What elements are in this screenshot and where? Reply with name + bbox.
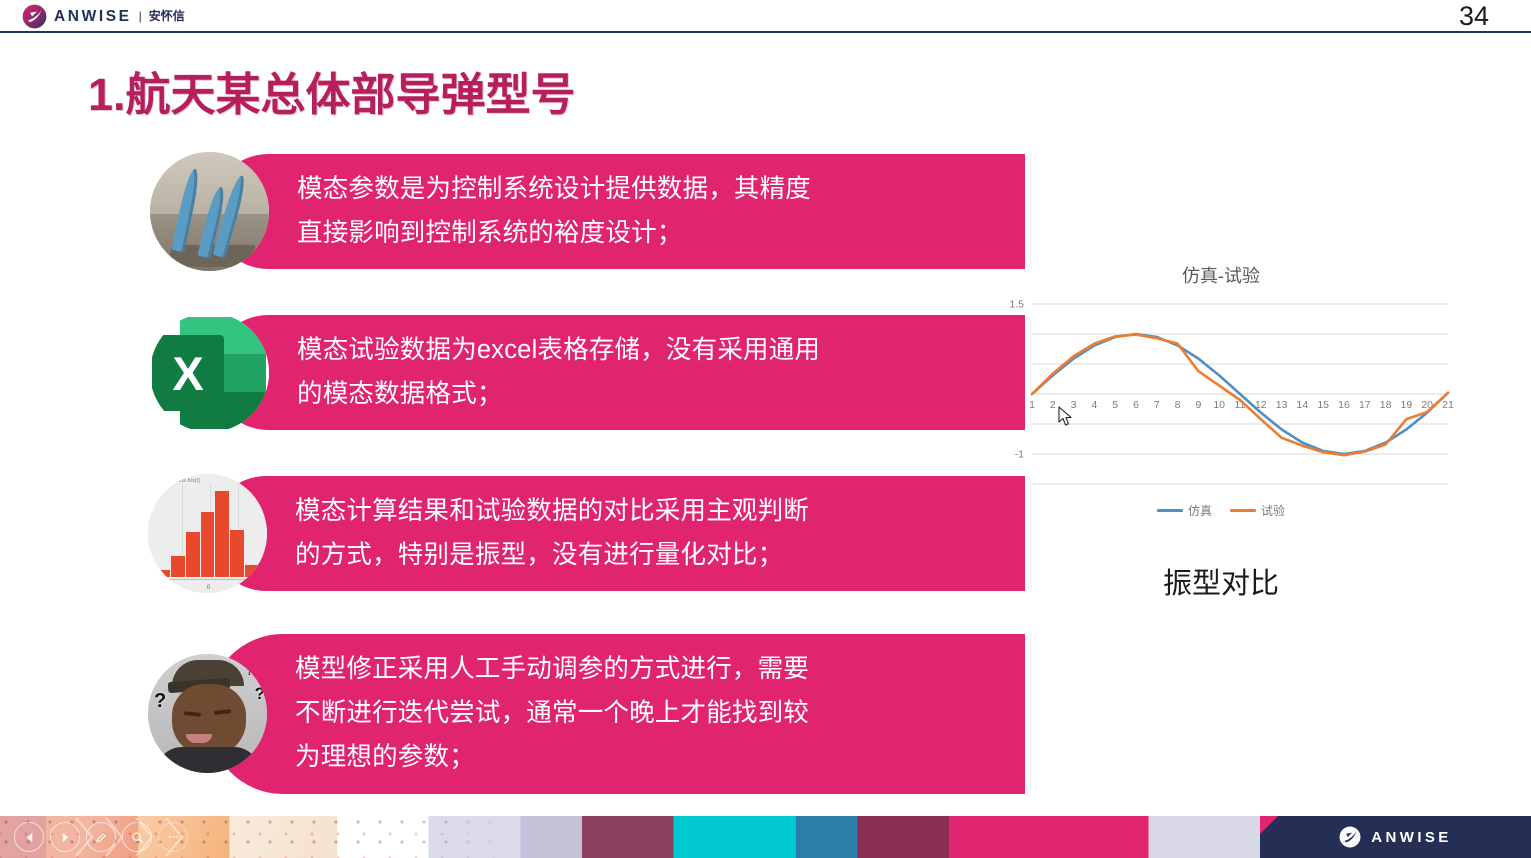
y-axis-tick-label: -1	[1015, 449, 1024, 461]
x-axis-tick-label: 9	[1195, 399, 1201, 411]
x-axis-tick-label: 13	[1276, 399, 1288, 411]
footer-accent-corner	[1260, 816, 1278, 834]
previous-slide-icon[interactable]	[14, 822, 44, 852]
x-axis-tick-label: 14	[1297, 399, 1309, 411]
x-axis-tick-label: 21	[1442, 399, 1454, 411]
anwise-swoosh-logo-icon	[1339, 826, 1361, 848]
bullet-banner: 模态试验数据为excel表格存储，没有采用通用 的模态数据格式；	[211, 315, 1025, 431]
chart-legend: 仿真 试验	[986, 502, 1456, 519]
legend-swatch	[1157, 509, 1183, 512]
question-mark-icon: ?	[154, 690, 166, 713]
bullet-text: 模态计算结果和试验数据的对比采用主观判断 的方式，特别是振型，没有进行量化对比；	[295, 490, 809, 578]
footer-brand-name: ANWISE	[1371, 829, 1451, 846]
x-axis-tick-label: 10	[1213, 399, 1225, 411]
x-axis-tick-label: 6	[1133, 399, 1139, 411]
legend-item-simulation: 仿真	[1157, 502, 1212, 519]
legend-item-experiment: 试验	[1230, 502, 1285, 519]
bullet-text: 模态参数是为控制系统设计提供数据，其精度 直接影响到控制系统的裕度设计；	[297, 168, 811, 256]
question-mark-icon: ?	[246, 666, 253, 678]
bullet-row: plots.hist() -1 0 1	[148, 474, 1025, 593]
brand-separator: |	[139, 4, 142, 29]
x-axis-tick-label: 7	[1154, 399, 1160, 411]
bullet-row: X 模态试验数据为excel表格存储，没有采用通用 的模态数据格式；	[150, 313, 1025, 432]
slide-title: 1.航天某总体部导弹型号	[88, 58, 576, 123]
comparison-line-chart: 仿真-试验 1.510.50-0.5-1-1.51234567891011121…	[986, 262, 1456, 522]
chart-caption: 振型对比	[986, 560, 1456, 602]
x-axis-tick-label: 5	[1112, 399, 1118, 411]
brand-name-cn: 安怀信	[149, 4, 185, 29]
missile-launcher-photo	[150, 152, 269, 271]
confused-face-meme-photo: ? ? ?	[148, 654, 267, 773]
histogram-tick: -1	[171, 585, 176, 591]
next-slide-icon[interactable]	[50, 822, 80, 852]
question-mark-icon: ?	[255, 684, 265, 704]
presentation-controls[interactable]	[14, 821, 188, 853]
mouse-pointer-icon	[1058, 406, 1074, 428]
zoom-magnifier-icon[interactable]	[122, 822, 152, 852]
x-axis-tick-label: 15	[1317, 399, 1329, 411]
x-axis-tick-label: 16	[1338, 399, 1350, 411]
bullet-banner: 模态参数是为控制系统设计提供数据，其精度 直接影响到控制系统的裕度设计；	[211, 154, 1025, 270]
bullet-row: 模态参数是为控制系统设计提供数据，其精度 直接影响到控制系统的裕度设计；	[150, 152, 1025, 271]
page-number: 34	[1459, 1, 1489, 31]
x-axis-tick-label: 19	[1401, 399, 1413, 411]
chart-title: 仿真-试验	[986, 262, 1456, 288]
presentation-slide: ANWISE | 安怀信 34 1.航天某总体部导弹型号 模态参数是为控制系统设…	[0, 0, 1531, 858]
slide-footer: ANWISE	[0, 816, 1531, 858]
chart-svg: 1.510.50-0.5-1-1.51234567891011121314151…	[986, 296, 1456, 492]
histogram-tick: 0	[207, 585, 210, 591]
bullet-text: 模态试验数据为excel表格存储，没有采用通用 的模态数据格式；	[297, 329, 820, 417]
x-axis-tick-label: 2	[1050, 399, 1056, 411]
more-options-icon[interactable]	[158, 822, 188, 852]
footer-brand: ANWISE	[1260, 816, 1531, 858]
y-axis-tick-label: 1.5	[1009, 299, 1024, 311]
legend-label: 仿真	[1188, 502, 1212, 519]
histogram-chart-thumbnail: plots.hist() -1 0 1	[148, 474, 267, 593]
legend-swatch	[1230, 509, 1256, 512]
slide-header: ANWISE | 安怀信 34	[0, 0, 1531, 33]
x-axis-tick-label: 17	[1359, 399, 1371, 411]
histogram-bars	[156, 491, 259, 577]
bullet-banner: 模态计算结果和试验数据的对比采用主观判断 的方式，特别是振型，没有进行量化对比；	[209, 476, 1025, 592]
microsoft-excel-icon: X	[150, 313, 269, 432]
excel-letter: X	[172, 350, 203, 397]
bullet-row: ? ? ? 模型修正采用人工手动调参的方式进行，需要 不断进行迭代尝试，通常一个…	[148, 634, 1025, 794]
brand-name: ANWISE	[54, 4, 132, 29]
x-axis-tick-label: 8	[1175, 399, 1181, 411]
anwise-swoosh-logo-icon	[22, 4, 47, 29]
bullet-banner: 模型修正采用人工手动调参的方式进行，需要 不断进行迭代尝试，通常一个晚上才能找到…	[209, 634, 1025, 794]
bullet-text: 模型修正采用人工手动调参的方式进行，需要 不断进行迭代尝试，通常一个晚上才能找到…	[295, 648, 809, 780]
pen-annotate-icon[interactable]	[86, 822, 116, 852]
legend-label: 试验	[1261, 502, 1285, 519]
chart-plot-area: 1.510.50-0.5-1-1.51234567891011121314151…	[986, 296, 1456, 486]
x-axis-tick-label: 1	[1029, 399, 1035, 411]
histogram-tick: 1	[240, 585, 243, 591]
histogram-caption: plots.hist()	[174, 478, 201, 484]
x-axis-tick-label: 18	[1380, 399, 1392, 411]
x-axis-tick-label: 4	[1091, 399, 1097, 411]
header-brand: ANWISE | 安怀信	[22, 3, 185, 29]
